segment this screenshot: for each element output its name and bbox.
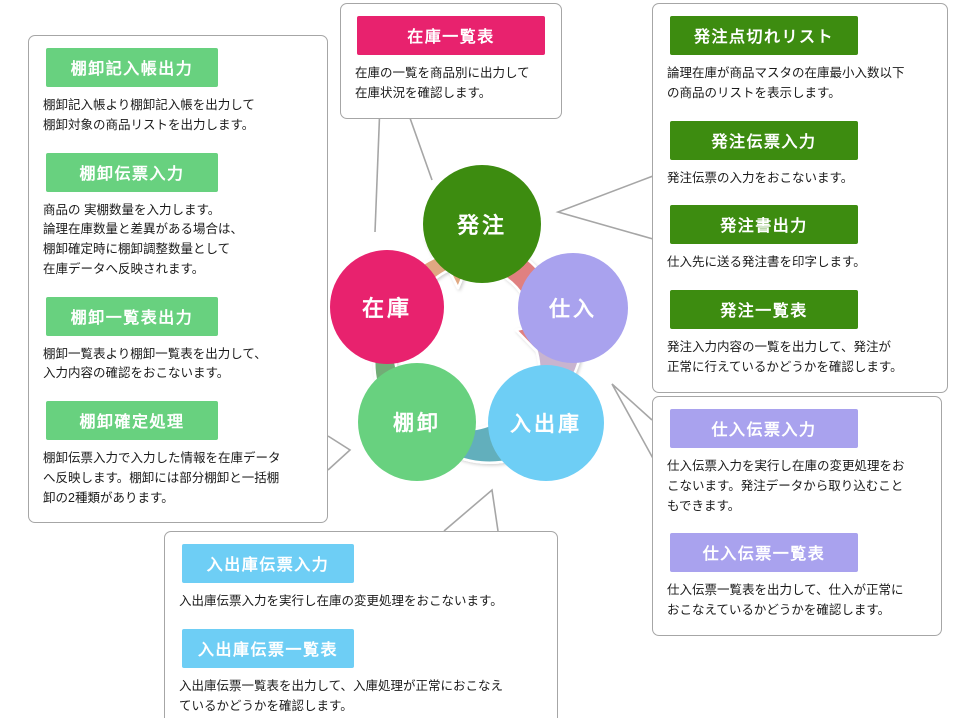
- feature-desc: 棚卸記入帳より棚卸記入帳を出力して 棚卸対象の商品リストを出力します。: [43, 96, 313, 136]
- feature-chip-tanaoroshi-denpyo-nyuryoku[interactable]: 棚卸伝票入力: [46, 153, 218, 192]
- process-cycle-wheel: 発注 仕入 入出庫 棚卸 在庫: [330, 160, 650, 500]
- cycle-node-tanaoroshi-label: 棚卸: [393, 407, 441, 437]
- callout-item: 入出庫伝票一覧表 入出庫伝票一覧表を出力して、入庫処理が正常におこなえ ているか…: [179, 629, 543, 717]
- callout-item: 棚卸記入帳出力 棚卸記入帳より棚卸記入帳を出力して 棚卸対象の商品リストを出力し…: [43, 48, 313, 136]
- feature-desc: 仕入伝票入力を実行し在庫の変更処理をお こないます。発注データから取り込むこと …: [667, 457, 927, 516]
- callout-item: 棚卸伝票入力 商品の 実棚数量を入力します。 論理在庫数量と差異がある場合は、 …: [43, 153, 313, 280]
- callout-item: 仕入伝票一覧表 仕入伝票一覧表を出力して、仕入が正常に おこなえているかどうかを…: [667, 533, 927, 621]
- feature-chip-zaiko-ichiranhyo[interactable]: 在庫一覧表: [357, 16, 545, 55]
- feature-chip-hacchuten-gire-list[interactable]: 発注点切れリスト: [670, 16, 858, 55]
- feature-desc: 在庫の一覧を商品別に出力して 在庫状況を確認します。: [355, 64, 547, 104]
- feature-desc: 論理在庫が商品マスタの在庫最小入数以下 の商品のリストを表示します。: [667, 64, 933, 104]
- callout-item: 棚卸一覧表出力 棚卸一覧表より棚卸一覧表を出力して、 入力内容の確認をおこないま…: [43, 297, 313, 385]
- callout-item: 発注伝票入力 発注伝票の入力をおこないます。: [667, 121, 933, 189]
- feature-chip-shiire-denpyo-ichiranhyo[interactable]: 仕入伝票一覧表: [670, 533, 858, 572]
- cycle-node-nyushukko[interactable]: 入出庫: [488, 365, 604, 481]
- feature-chip-nyushukko-denpyo-nyuryoku[interactable]: 入出庫伝票入力: [182, 544, 354, 583]
- feature-desc: 入出庫伝票一覧表を出力して、入庫処理が正常におこなえ ているかどうかを確認します…: [179, 677, 543, 717]
- cycle-node-nyushukko-label: 入出庫: [510, 408, 582, 438]
- callout-item: 棚卸確定処理 棚卸伝票入力で入力した情報を在庫データ へ反映します。棚卸には部分…: [43, 401, 313, 508]
- cycle-node-hacchu-label: 発注: [457, 208, 507, 240]
- callout-tanaoroshi: 棚卸記入帳出力 棚卸記入帳より棚卸記入帳を出力して 棚卸対象の商品リストを出力し…: [28, 35, 328, 523]
- callout-item: 発注書出力 仕入先に送る発注書を印字します。: [667, 205, 933, 273]
- feature-desc: 仕入先に送る発注書を印字します。: [667, 253, 933, 273]
- feature-desc: 発注入力内容の一覧を出力して、発注が 正常に行えているかどうかを確認します。: [667, 338, 933, 378]
- diagram-canvas: 発注 仕入 入出庫 棚卸 在庫 在庫一覧表 在庫の一覧を商品別に出力して 在庫状…: [0, 0, 960, 718]
- feature-desc: 商品の 実棚数量を入力します。 論理在庫数量と差異がある場合は、 棚卸確定時に棚…: [43, 201, 313, 280]
- callout-shiire: 仕入伝票入力 仕入伝票入力を実行し在庫の変更処理をお こないます。発注データから…: [652, 396, 942, 636]
- callout-item: 仕入伝票入力 仕入伝票入力を実行し在庫の変更処理をお こないます。発注データから…: [667, 409, 927, 516]
- cycle-node-shiire[interactable]: 仕入: [518, 253, 628, 363]
- feature-chip-shiire-denpyo-nyuryoku[interactable]: 仕入伝票入力: [670, 409, 858, 448]
- feature-chip-tanaoroshi-kinyucho-shutsuryoku[interactable]: 棚卸記入帳出力: [46, 48, 218, 87]
- cycle-node-shiire-label: 仕入: [549, 293, 597, 323]
- feature-chip-hacchu-denpyo-nyuryoku[interactable]: 発注伝票入力: [670, 121, 858, 160]
- callout-inventory-list: 在庫一覧表 在庫の一覧を商品別に出力して 在庫状況を確認します。: [340, 3, 562, 119]
- feature-desc: 発注伝票の入力をおこないます。: [667, 169, 933, 189]
- callout-item: 在庫一覧表 在庫の一覧を商品別に出力して 在庫状況を確認します。: [355, 16, 547, 104]
- feature-desc: 入出庫伝票入力を実行し在庫の変更処理をおこないます。: [179, 592, 543, 612]
- cycle-node-zaiko-label: 在庫: [362, 291, 412, 323]
- cycle-node-hacchu[interactable]: 発注: [423, 165, 541, 283]
- feature-desc: 棚卸伝票入力で入力した情報を在庫データ へ反映します。棚卸には部分棚卸と一括棚 …: [43, 449, 313, 508]
- cycle-node-tanaoroshi[interactable]: 棚卸: [358, 363, 476, 481]
- feature-chip-tanaoroshi-ichiranhyo-shutsuryoku[interactable]: 棚卸一覧表出力: [46, 297, 218, 336]
- callout-hacchu: 発注点切れリスト 論理在庫が商品マスタの在庫最小入数以下 の商品のリストを表示し…: [652, 3, 948, 393]
- feature-chip-tanaoroshi-kakutei-shori[interactable]: 棚卸確定処理: [46, 401, 218, 440]
- callout-item: 入出庫伝票入力 入出庫伝票入力を実行し在庫の変更処理をおこないます。: [179, 544, 543, 612]
- cycle-node-zaiko[interactable]: 在庫: [330, 250, 444, 364]
- callout-item: 発注一覧表 発注入力内容の一覧を出力して、発注が 正常に行えているかどうかを確認…: [667, 290, 933, 378]
- feature-chip-nyushukko-denpyo-ichiranhyo[interactable]: 入出庫伝票一覧表: [182, 629, 354, 668]
- feature-desc: 仕入伝票一覧表を出力して、仕入が正常に おこなえているかどうかを確認します。: [667, 581, 927, 621]
- feature-chip-hacchusho-shutsuryoku[interactable]: 発注書出力: [670, 205, 858, 244]
- callout-item: 発注点切れリスト 論理在庫が商品マスタの在庫最小入数以下 の商品のリストを表示し…: [667, 16, 933, 104]
- feature-chip-hacchu-ichiranhyo[interactable]: 発注一覧表: [670, 290, 858, 329]
- callout-nyushukko: 入出庫伝票入力 入出庫伝票入力を実行し在庫の変更処理をおこないます。 入出庫伝票…: [164, 531, 558, 718]
- feature-desc: 棚卸一覧表より棚卸一覧表を出力して、 入力内容の確認をおこないます。: [43, 345, 313, 385]
